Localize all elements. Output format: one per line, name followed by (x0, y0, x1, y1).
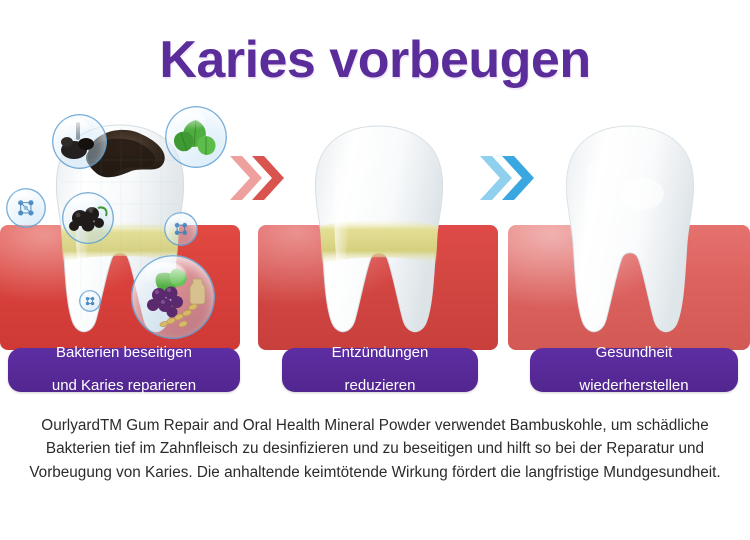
molecule-bubble-left (6, 188, 46, 228)
description-paragraph: OurlyardTM Gum Repair and Oral Health Mi… (12, 414, 738, 484)
tooth-healthy (550, 120, 708, 336)
step-3-label-line2: wiederherstellen (569, 378, 698, 395)
charcoal-granule-bubble (62, 192, 114, 244)
step-1-label-line2: und Karies reparieren (42, 378, 206, 395)
step-1-label-line1: Bakterien beseitigen (42, 345, 206, 362)
step-3-illustration (508, 100, 750, 350)
infographic-page: Karies vorbeugen (0, 0, 750, 540)
tooth-with-plaque (299, 120, 457, 336)
step-3-label[interactable]: Gesundheit wiederherstellen (530, 348, 738, 392)
page-title: Karies vorbeugen (0, 30, 750, 90)
step-2-label-line1: Entzündungen (322, 345, 439, 362)
step-3-label-line1: Gesundheit (569, 345, 698, 362)
molecule-bubble-bottom (79, 290, 101, 312)
mint-leaf-bubble (165, 106, 227, 168)
berries-grains-bubble (131, 255, 215, 339)
step-2-illustration (258, 100, 498, 350)
step-1-illustration (0, 100, 240, 350)
cavity-charcoal-bubble (52, 114, 107, 169)
step-1-label[interactable]: Bakterien beseitigen und Karies reparier… (8, 348, 240, 392)
molecule-bubble-right (164, 212, 198, 246)
step-2-label[interactable]: Entzündungen reduzieren (282, 348, 478, 392)
step-2-label-line2: reduzieren (322, 378, 439, 395)
